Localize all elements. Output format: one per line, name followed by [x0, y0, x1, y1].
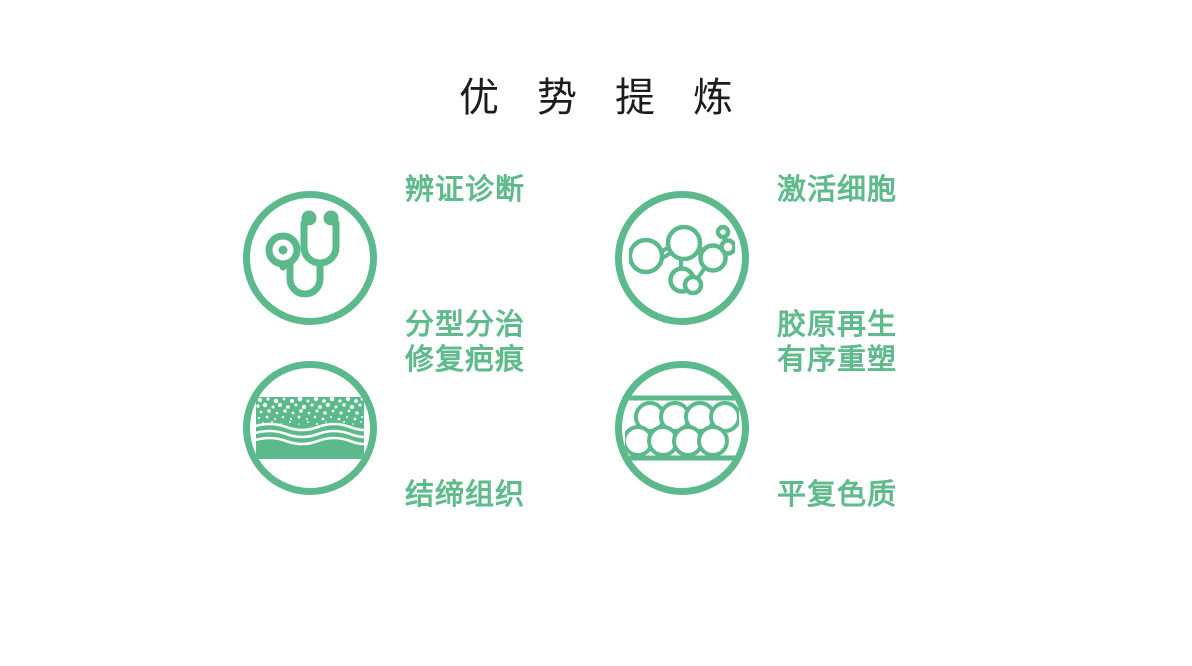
feature-label-2-line1: 激活细胞 [777, 168, 897, 213]
feature-label-4-line2: 平复色质 [777, 473, 897, 518]
feature-item-4[interactable]: 有序重塑 平复色质 [615, 358, 965, 498]
feature-label-1-line1: 辨证诊断 [405, 168, 525, 213]
slide-root: 优 势 提 炼 辨证诊断 [0, 0, 1192, 666]
feature-grid: 辨证诊断 分型分治 [243, 188, 963, 510]
stethoscope-icon [243, 191, 377, 325]
page-title: 优 势 提 炼 [0, 72, 1192, 124]
feature-label-3-line2: 结缔组织 [405, 473, 525, 518]
feature-label-3-line1: 修复疤痕 [405, 338, 525, 383]
feature-label-3: 修复疤痕 结缔组织 [405, 248, 525, 608]
feature-label-4: 有序重塑 平复色质 [777, 248, 897, 608]
skin-layers-icon [243, 361, 377, 495]
molecule-cell-icon [615, 191, 749, 325]
feature-label-4-line1: 有序重塑 [777, 338, 897, 383]
feature-item-3[interactable]: 修复疤痕 结缔组织 [243, 358, 593, 498]
ordered-cells-icon [615, 361, 749, 495]
